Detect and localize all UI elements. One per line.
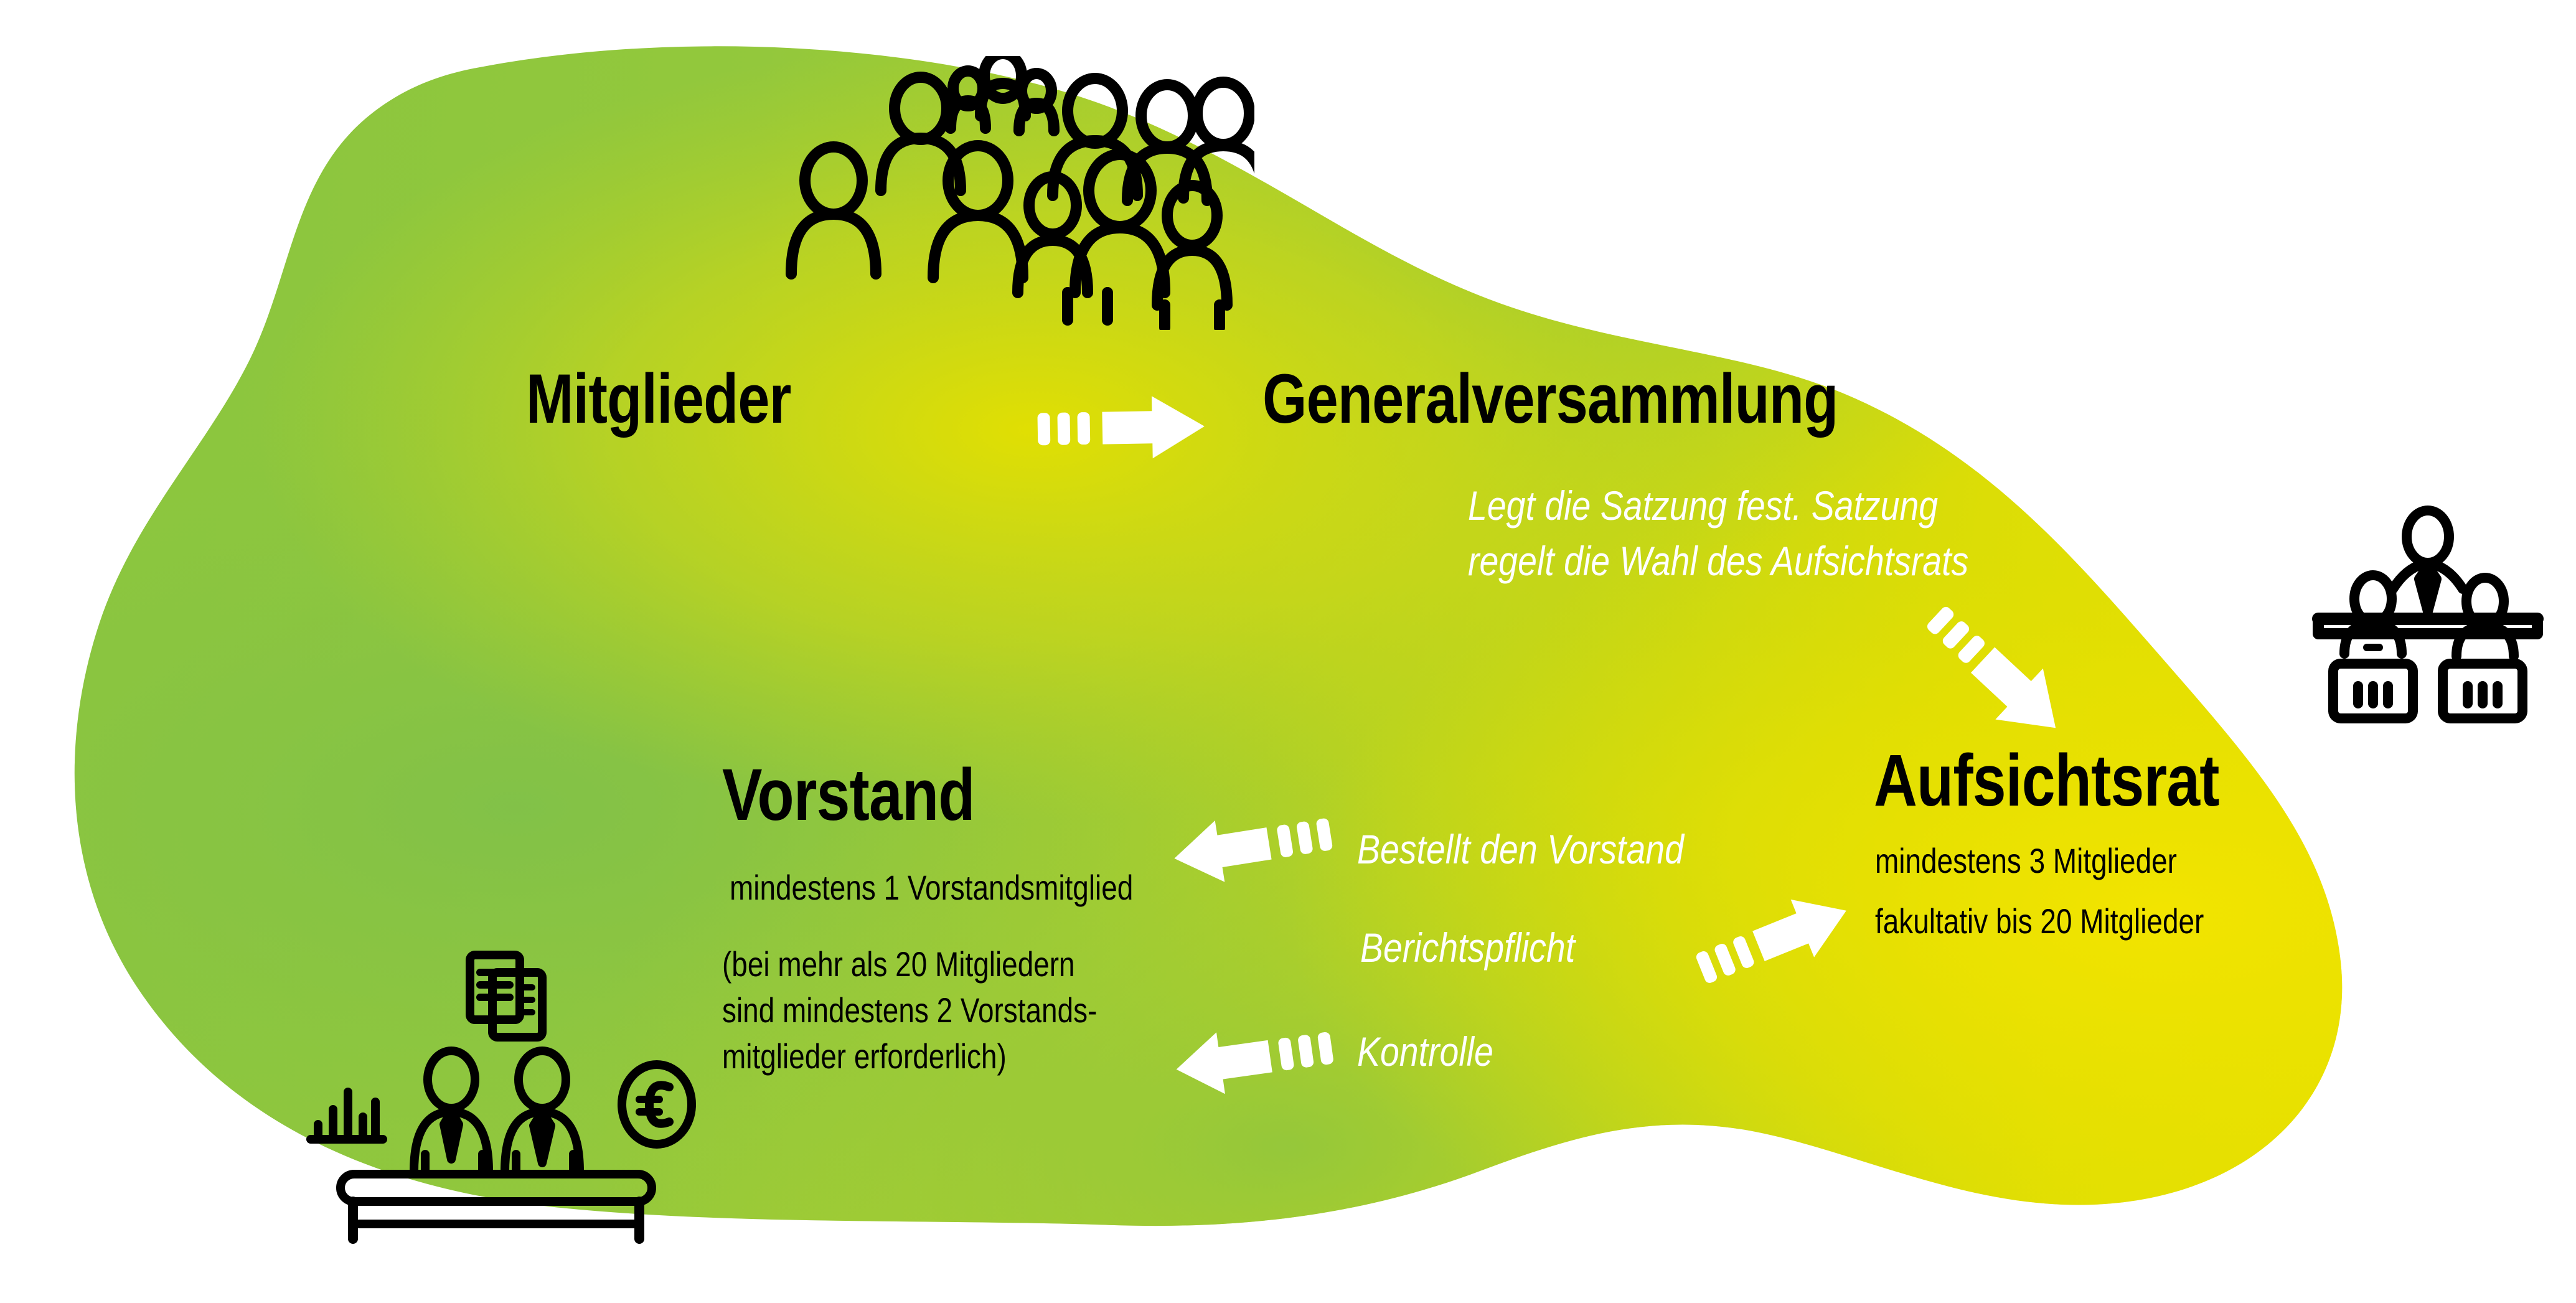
- infographic-canvas: Mitglieder Generalversammlung Legt die S…: [0, 0, 2576, 1303]
- node-title-generalversammlung: Generalversammlung: [1262, 364, 1838, 434]
- generalversammlung-note: Legt die Satzung fest. Satzung regelt di…: [1468, 478, 1968, 589]
- paren-line-2: sind mindestens 2 Vorstands-: [722, 987, 1097, 1033]
- note-line-2: regelt die Wahl des Aufsichtsrats: [1468, 534, 1968, 589]
- board-members-at-desk-icon: [283, 928, 700, 1245]
- crowd-of-people-icon: [781, 56, 1254, 330]
- dashed-arrow-left-icon-kontrolle: [1183, 1016, 1345, 1097]
- vorstand-label: Vorstand: [722, 754, 975, 836]
- paren-line-1: (bei mehr als 20 Mitgliedern: [722, 941, 1097, 987]
- aufsichtsrat-detail-1: mindestens 3 Mitglieder: [1875, 844, 2177, 878]
- arrow-label-berichtspflicht: Berichtspflicht: [1360, 920, 1575, 976]
- node-title-mitglieder: Mitglieder: [526, 364, 791, 434]
- arrow-label-bestellt: Bestellt den Vorstand: [1357, 822, 1684, 877]
- dashed-arrow-right-icon-berichtspflicht: [1690, 896, 1858, 984]
- arrow-label-kontrolle: Kontrolle: [1357, 1024, 1493, 1080]
- supervisory-board-icon: [2303, 504, 2552, 728]
- note-line-1: Legt die Satzung fest. Satzung: [1468, 478, 1968, 534]
- vorstand-paren-block: (bei mehr als 20 Mitgliedern sind mindes…: [722, 941, 1097, 1080]
- node-title-aufsichtsrat: Aufsichtsrat: [1874, 744, 2219, 817]
- vorstand-detail-1: mindestens 1 Vorstandsmitglied: [730, 870, 1133, 905]
- dashed-arrow-right-icon: [1030, 389, 1217, 476]
- aufsichtsrat-detail-2: fakultativ bis 20 Mitglieder: [1875, 904, 2204, 939]
- dashed-arrow-down-right-icon: [1905, 601, 2085, 738]
- dashed-arrow-left-icon-bestellt: [1180, 806, 1342, 887]
- generalversammlung-label: Generalversammlung: [1262, 360, 1838, 438]
- node-title-vorstand: Vorstand: [722, 758, 975, 832]
- paren-line-3: mitglieder erforderlich): [722, 1033, 1097, 1080]
- aufsichtsrat-label: Aufsichtsrat: [1874, 740, 2219, 822]
- mitglieder-label: Mitglieder: [526, 360, 791, 438]
